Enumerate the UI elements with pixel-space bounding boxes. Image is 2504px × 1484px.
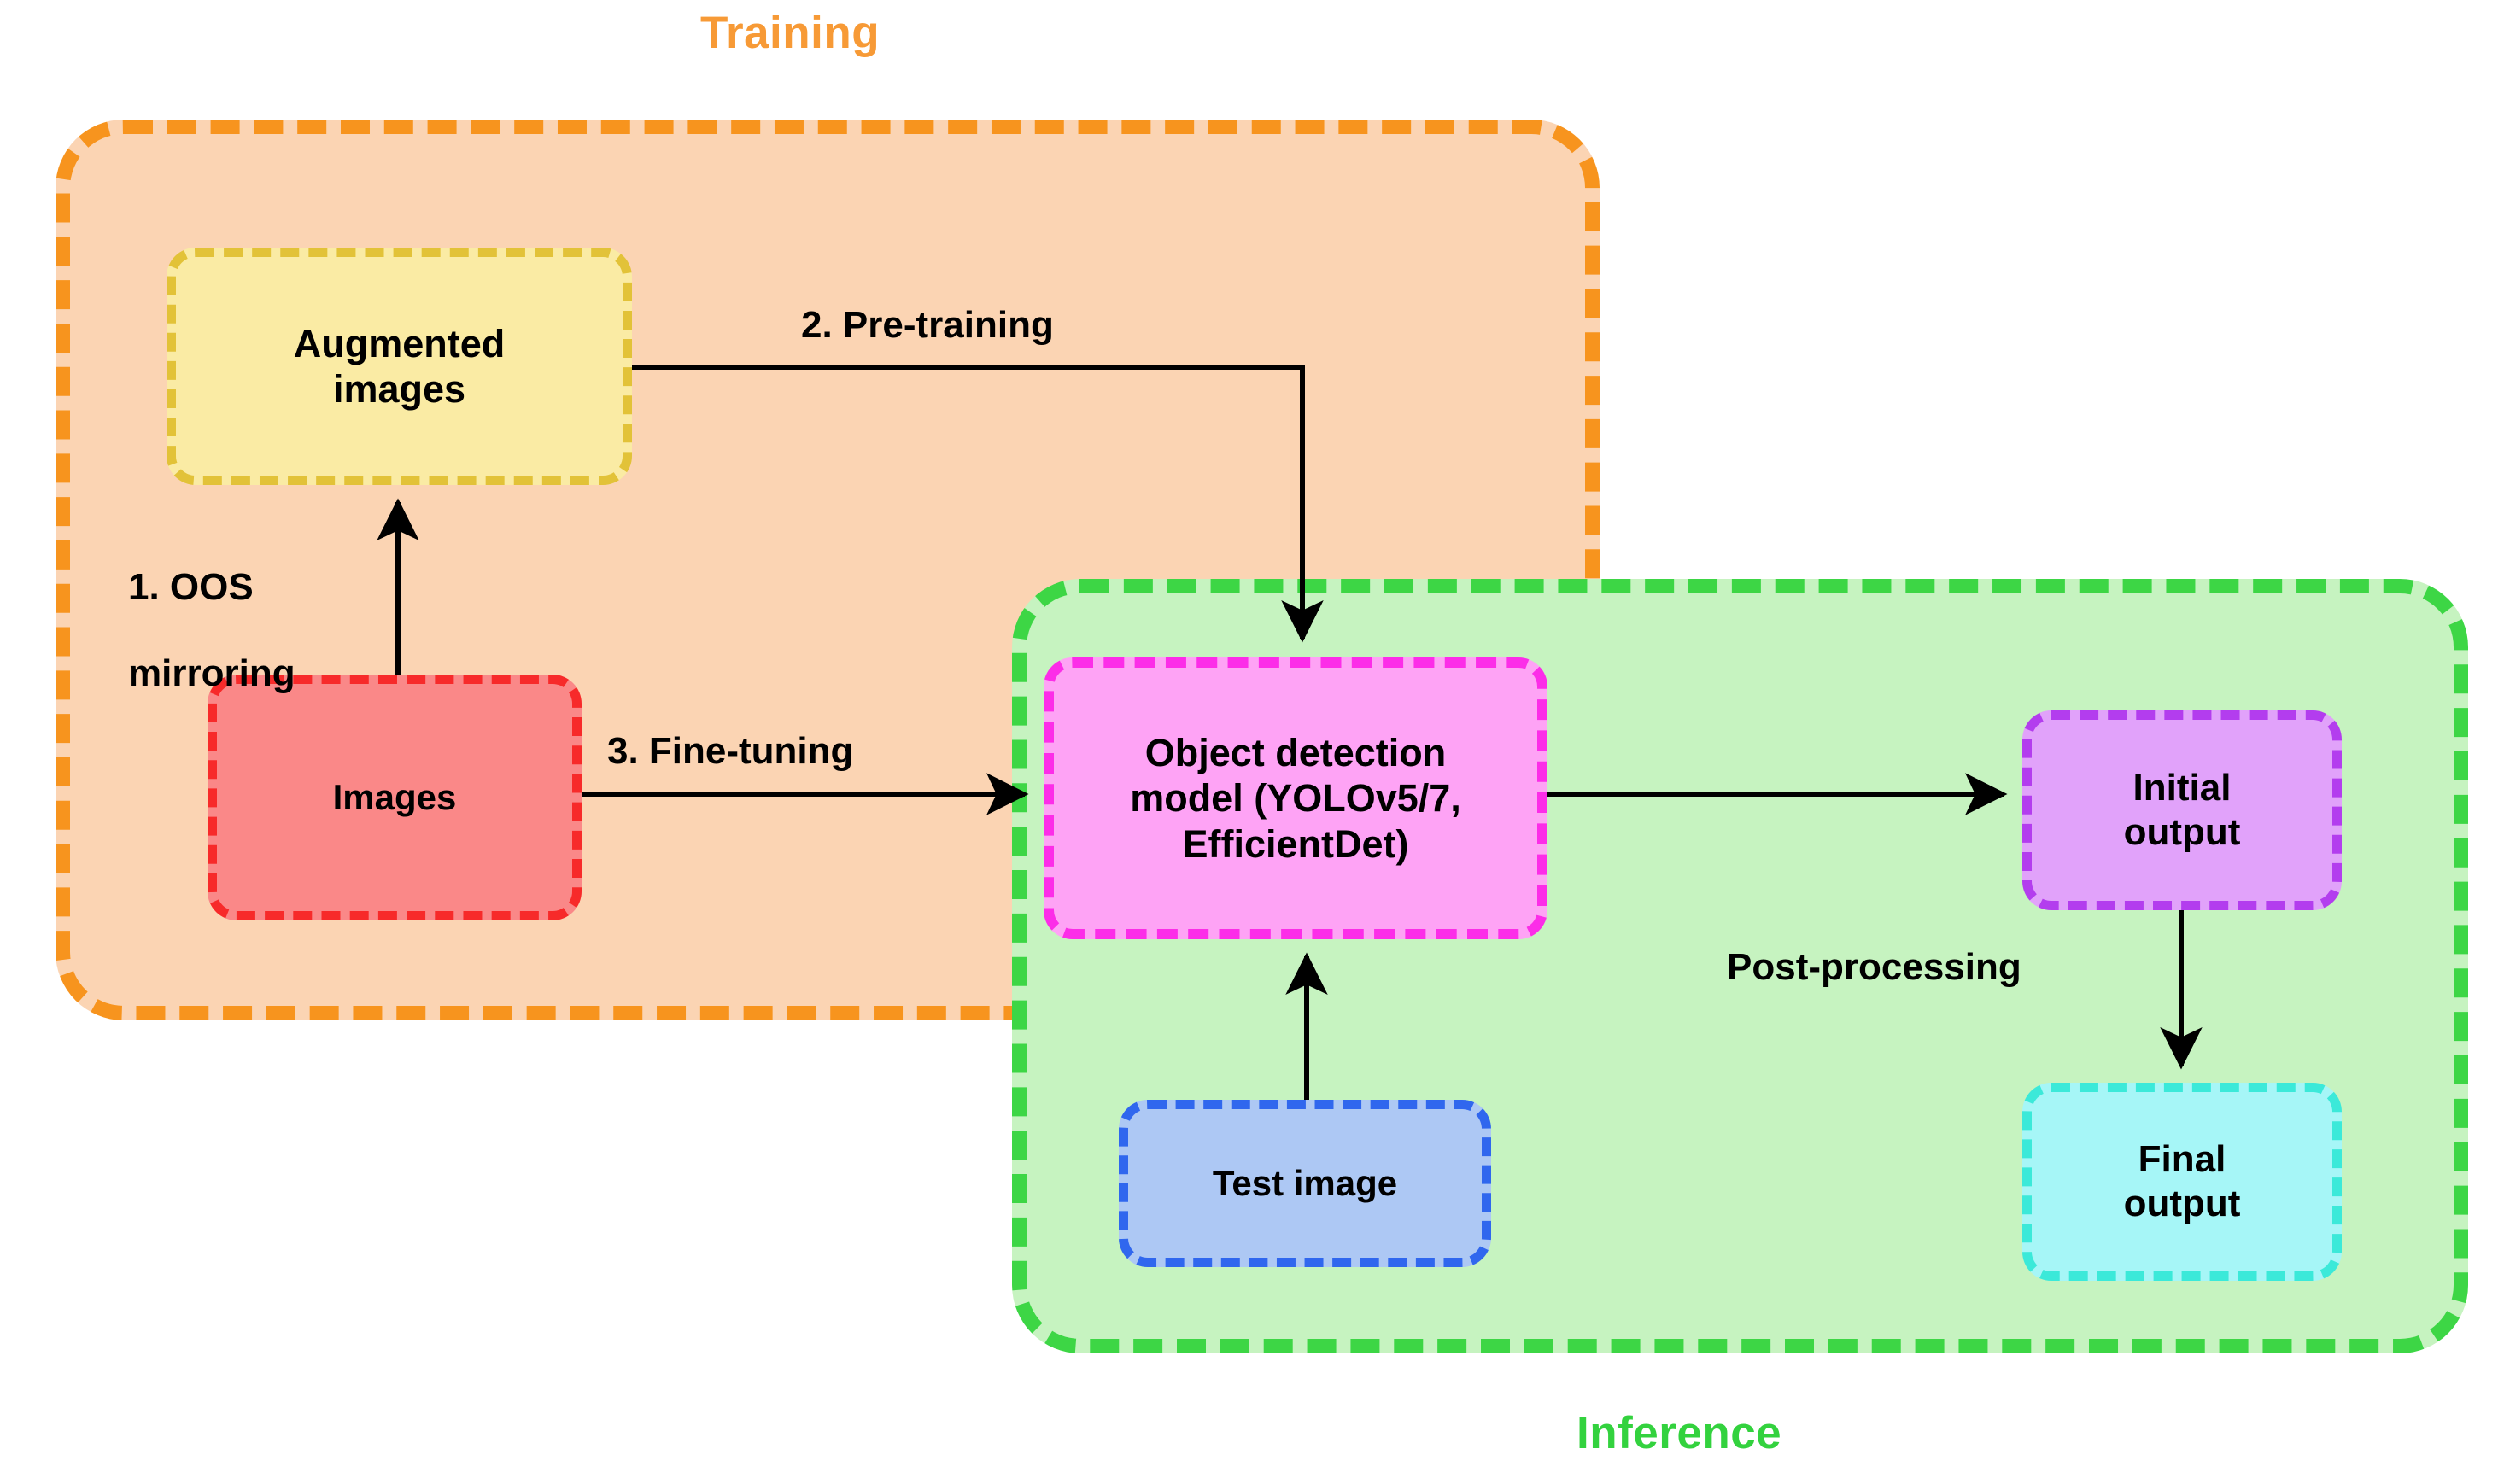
node-initial-output-label-line2: output (2124, 810, 2241, 855)
node-object-detection-model-label-line2: model (YOLOv5/7, (1130, 775, 1461, 821)
training-group-title: Training (700, 7, 880, 59)
inference-group-title: Inference (1577, 1407, 1781, 1459)
node-object-detection-model[interactable]: Object detection model (YOLOv5/7, Effici… (1044, 657, 1547, 939)
node-augmented-images-label-line2: images (294, 366, 506, 412)
node-initial-output-label-line1: Initial (2124, 766, 2241, 810)
node-augmented-images-label: Augmented images (294, 321, 506, 412)
node-images-label: Images (333, 776, 457, 819)
edge-label-oos-mirroring: 1. OOS mirroring (128, 523, 384, 739)
node-augmented-images-label-line1: Augmented (294, 321, 506, 366)
node-object-detection-model-label-line1: Object detection (1130, 730, 1461, 775)
edge-label-oos-mirroring-line1: 1. OOS (128, 566, 384, 610)
node-final-output-label-line1: Final (2124, 1137, 2241, 1182)
node-object-detection-model-label-line3: EfficientDet) (1130, 821, 1461, 867)
edge-label-fine-tuning: 3. Fine-tuning (607, 730, 853, 774)
edge-label-pre-training: 2. Pre-training (801, 304, 1054, 348)
diagram-canvas: Training Inference Augmented images Imag… (0, 0, 2504, 1484)
node-test-image-label: Test image (1213, 1162, 1397, 1205)
node-final-output-label: Final output (2124, 1137, 2241, 1226)
edge-label-oos-mirroring-line2: mirroring (128, 652, 384, 696)
node-final-output[interactable]: Final output (2022, 1083, 2342, 1281)
node-initial-output[interactable]: Initial output (2022, 710, 2342, 910)
node-object-detection-model-label: Object detection model (YOLOv5/7, Effici… (1130, 730, 1461, 866)
node-final-output-label-line2: output (2124, 1182, 2241, 1226)
node-test-image[interactable]: Test image (1119, 1100, 1491, 1267)
node-augmented-images[interactable]: Augmented images (167, 248, 632, 485)
node-initial-output-label: Initial output (2124, 766, 2241, 855)
edge-label-post-processing: Post-processing (1727, 946, 2021, 990)
